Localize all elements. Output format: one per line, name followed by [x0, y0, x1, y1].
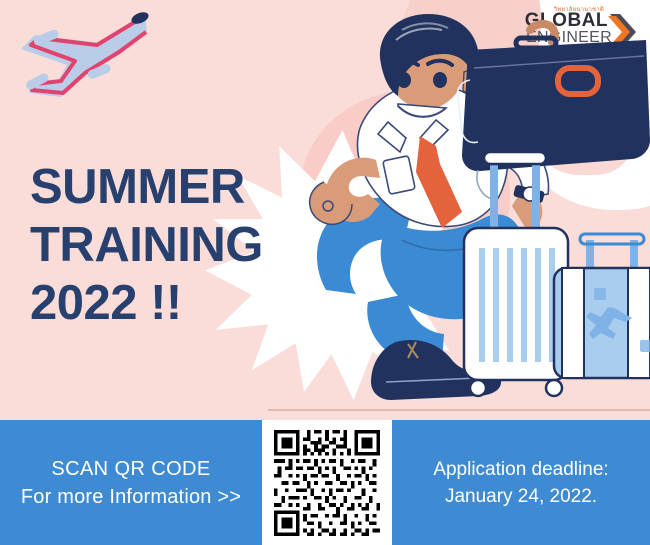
running-businessman-illustration — [268, 10, 650, 422]
bottom-banner: SCAN QR CODE For more Information >> — [0, 420, 650, 545]
airplane-icon — [5, 5, 155, 105]
qr-code-panel[interactable] — [262, 420, 392, 545]
deadline-callout: Application deadline: January 24, 2022. — [392, 420, 650, 545]
scan-qr-callout: SCAN QR CODE For more Information >> — [0, 420, 262, 545]
deadline-line2: January 24, 2022. — [445, 483, 597, 510]
page-title: SUMMER TRAINING 2022 !! — [30, 158, 263, 332]
qr-code-icon[interactable] — [274, 430, 380, 536]
scan-qr-line2: For more Information >> — [21, 483, 241, 511]
deadline-line1: Application deadline: — [433, 456, 608, 483]
poster-canvas: วิทยาลัยนานาชาติ GLOBAL ENGINEER งานวิเท… — [0, 0, 650, 545]
scan-qr-line1: SCAN QR CODE — [51, 455, 210, 483]
